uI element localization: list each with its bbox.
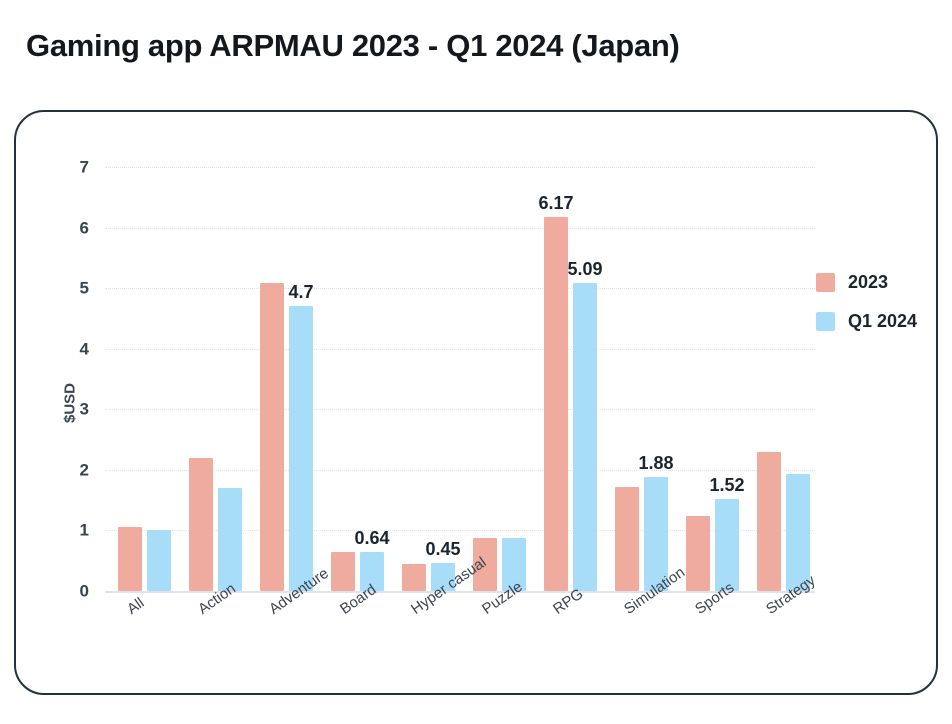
- legend-label: Q1 2024: [848, 311, 917, 332]
- legend-label: 2023: [848, 272, 888, 293]
- bar-2023[interactable]: [118, 527, 142, 591]
- legend-item[interactable]: 2023: [816, 272, 917, 293]
- bar-value-label: 1.52: [709, 476, 744, 494]
- bar-q1-2024[interactable]: 5.09: [573, 283, 597, 591]
- bar-2023[interactable]: [260, 283, 284, 591]
- y-axis-tick-label: 1: [80, 522, 89, 539]
- y-axis-tick-label: 0: [80, 583, 89, 600]
- bar-group: 6.175.09: [544, 167, 597, 591]
- x-axis-tick-label: All: [124, 594, 147, 617]
- y-axis-tick-label: 3: [80, 401, 89, 418]
- bar-value-label: 6.17: [538, 194, 573, 212]
- bar-group: [118, 167, 171, 591]
- plot-area: 01234567 4.70.640.456.175.091.881.52 All…: [105, 167, 815, 591]
- bar-2023[interactable]: [402, 564, 426, 591]
- bar-group: [189, 167, 242, 591]
- y-axis-tick-label: 2: [80, 461, 89, 478]
- chart-card: $USD 01234567 4.70.640.456.175.091.881.5…: [14, 110, 938, 695]
- bar-value-label: 5.09: [567, 260, 602, 278]
- bar-2023[interactable]: [757, 452, 781, 591]
- bar-2023[interactable]: [189, 458, 213, 591]
- bar-group: 1.52: [686, 167, 739, 591]
- y-axis-tick-label: 6: [80, 219, 89, 236]
- bar-q1-2024[interactable]: 4.7: [289, 306, 313, 591]
- bar-value-label: 4.7: [288, 283, 313, 301]
- chart-legend: 2023Q1 2024: [816, 272, 917, 350]
- bar-group: 1.88: [615, 167, 668, 591]
- y-axis-tick-label: 5: [80, 280, 89, 297]
- y-axis-title: $USD: [62, 382, 79, 422]
- legend-item[interactable]: Q1 2024: [816, 311, 917, 332]
- bar-2023[interactable]: [331, 552, 355, 591]
- page-title: Gaming app ARPMAU 2023 - Q1 2024 (Japan): [26, 28, 680, 64]
- y-axis-tick-label: 4: [80, 340, 89, 357]
- bar-q1-2024[interactable]: [218, 488, 242, 591]
- bar-2023[interactable]: 6.17: [544, 217, 568, 591]
- bar-group: [757, 167, 810, 591]
- bar-value-label: 0.45: [425, 540, 460, 558]
- bar-group: 4.7: [260, 167, 313, 591]
- legend-swatch-icon: [816, 273, 835, 292]
- bar-value-label: 1.88: [638, 454, 673, 472]
- bar-q1-2024[interactable]: 1.52: [715, 499, 739, 591]
- bar-q1-2024[interactable]: [147, 530, 171, 591]
- bar-2023[interactable]: [686, 516, 710, 591]
- legend-swatch-icon: [816, 312, 835, 331]
- bar-2023[interactable]: [615, 487, 639, 591]
- y-axis-tick-label: 7: [80, 159, 89, 176]
- bar-group: 0.64: [331, 167, 384, 591]
- bar-value-label: 0.64: [354, 529, 389, 547]
- bar-group: 0.45: [402, 167, 455, 591]
- bar-group: [473, 167, 526, 591]
